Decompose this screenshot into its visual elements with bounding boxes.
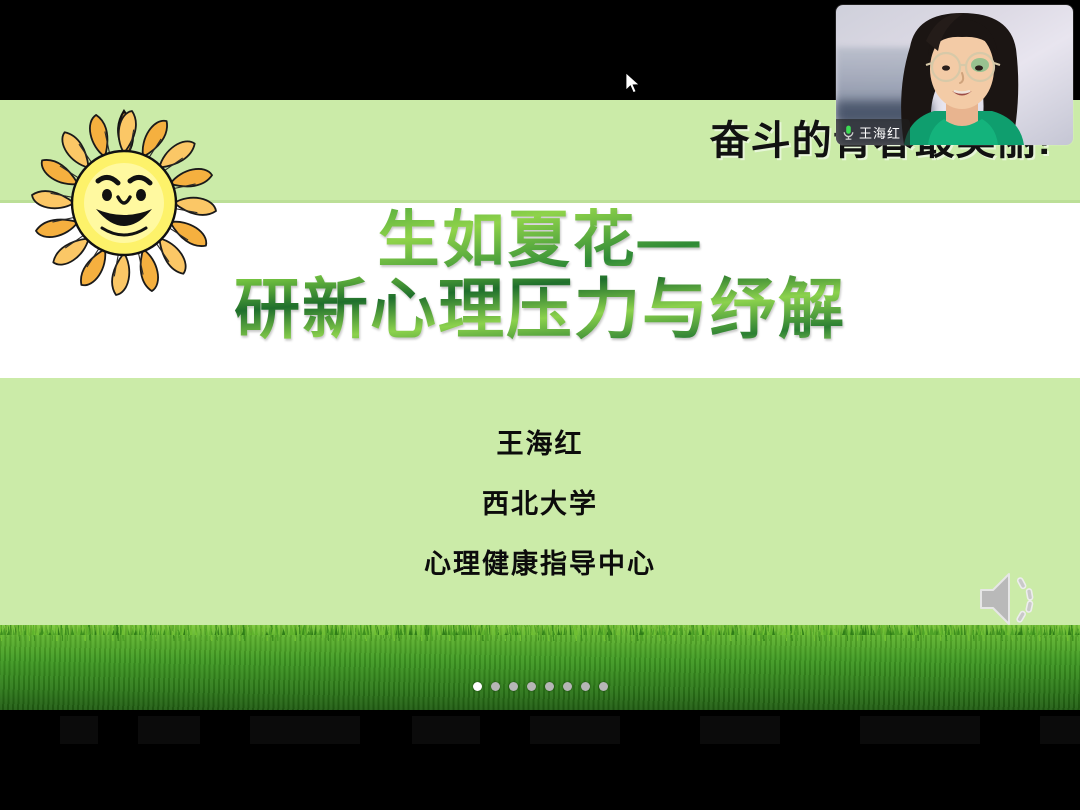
title-line-1: 生如夏花— [0,208,1080,273]
pager-dot[interactable] [527,682,536,691]
screen-share-window: 奋斗的青春最美丽! 生如夏花— 研新心理压力与纾解 王海红 西北大学 心理健康指… [0,0,1080,810]
participant-video-tile[interactable]: 王海红 [836,5,1073,145]
pager-dot[interactable] [509,682,518,691]
pager-dot[interactable] [545,682,554,691]
grass-strip [0,625,1080,710]
hidden-toolbar-hint [60,716,1080,744]
arrow-cursor [625,72,641,96]
title-line-2: 研新心理压力与纾解 [0,273,1080,347]
participant-avatar [888,11,1038,145]
bottom-toolbar [0,710,1080,810]
presenter-dept: 心理健康指导中心 [0,542,1080,581]
presenter-name: 王海红 [0,422,1080,461]
participant-name-tag: 王海红 [836,119,910,145]
presenter-block: 王海红 西北大学 心理健康指导中心 [0,422,1080,602]
pager-dot[interactable] [599,682,608,691]
grass-tips [0,625,1080,635]
slide-pager[interactable] [0,682,1080,691]
presentation-slide[interactable]: 奋斗的青春最美丽! 生如夏花— 研新心理压力与纾解 王海红 西北大学 心理健康指… [0,100,1080,710]
microphone-icon [843,125,854,140]
pager-dot[interactable] [581,682,590,691]
participant-name-label: 王海红 [859,123,901,142]
ppt-speaker-icon[interactable] [975,568,1050,630]
pager-dot[interactable] [473,682,482,691]
pager-dot[interactable] [563,682,572,691]
pager-dot[interactable] [491,682,500,691]
presenter-org: 西北大学 [0,482,1080,521]
slide-title: 生如夏花— 研新心理压力与纾解 [0,208,1080,347]
